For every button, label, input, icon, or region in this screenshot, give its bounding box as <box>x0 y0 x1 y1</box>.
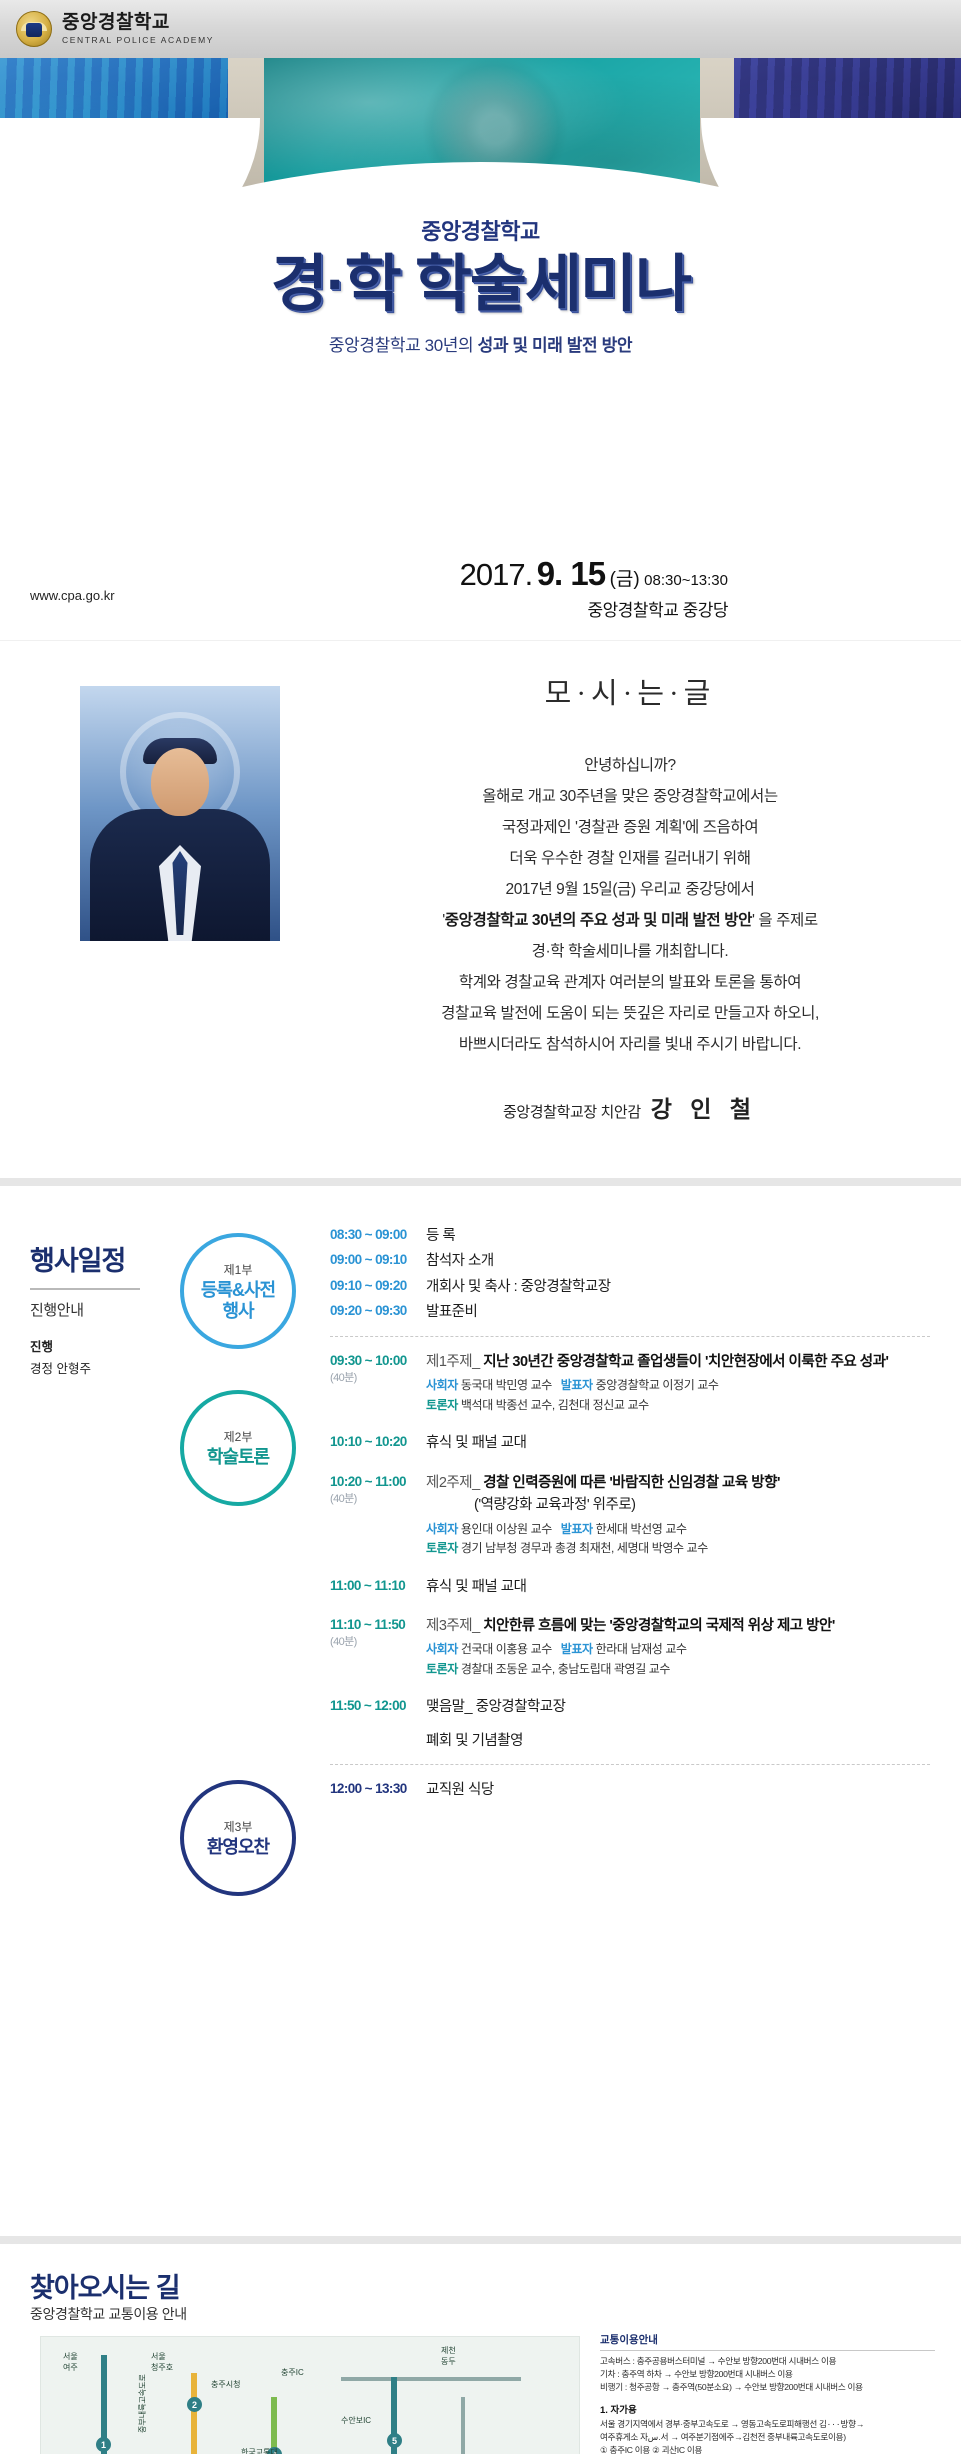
row-time: 10:20 ~ 11:00 (40분) <box>330 1472 426 1506</box>
title-subtitle: 중앙경찰학교 30년의 성과 및 미래 발전 방안 <box>0 331 961 356</box>
invitation-line: 안녕하십니까? <box>330 750 930 781</box>
presenter-label: 발표자 <box>561 1642 593 1656</box>
invitation-section: 모·시·는·글 안녕하십니까? 올해로 개교 30주년을 맞은 중앙경찰학교에서… <box>0 660 961 1100</box>
invitation-letter: 모·시·는·글 안녕하십니까? 올해로 개교 30주년을 맞은 중앙경찰학교에서… <box>330 670 930 1124</box>
row-duration: (40분) <box>330 1369 426 1385</box>
row-content: 제2주제_ 경찰 인력증원에 따른 '바람직한 신임경찰 교육 방향' ('역량… <box>426 1472 780 1559</box>
host-name: 경정 안형주 <box>30 1362 91 1376</box>
block-line: 여주휴게소 자س.서 → 여주분기점에주→김천전 중부내륙고속도로이용) <box>600 2431 935 2444</box>
website-url[interactable]: www.cpa.go.kr <box>30 588 115 603</box>
row-duration: (40분) <box>330 1490 426 1506</box>
schedule-row: 09:20 ~ 09:30 발표준비 <box>330 1301 930 1323</box>
topic-title: 경찰 인력증원에 따른 '바람직한 신임경찰 교육 방향' <box>483 1475 780 1491</box>
row-divider <box>330 1336 930 1337</box>
invitation-signature: 중앙경찰학교장 치안감강 인 철 <box>330 1090 930 1124</box>
moderator-name: 건국대 이홍용 교수 <box>461 1642 552 1656</box>
row-desc: 제2주제_ 경찰 인력증원에 따른 '바람직한 신임경찰 교육 방향' <box>426 1472 780 1494</box>
schedule-row: 09:10 ~ 09:20 개회사 및 축사 : 중앙경찰학교장 <box>330 1276 930 1298</box>
signer-name: 강 인 철 <box>651 1096 757 1122</box>
row-desc: 등 록 <box>426 1225 455 1247</box>
invitation-heading: 모·시·는·글 <box>330 670 930 712</box>
row-time: 08:30 ~ 09:00 <box>330 1225 426 1242</box>
subtitle-bold: 성과 및 미래 발전 방안 <box>478 336 632 355</box>
map-label: 수안보IC <box>341 2415 371 2426</box>
schedule-heading-block: 행사일정 진행안내 <box>30 1239 140 1320</box>
directions-section: 찾아오시는 길 중앙경찰학교 교통이용 안내 1 2 3 4 5 6 서울여주 … <box>0 2258 961 2454</box>
schedule-rule <box>30 1288 140 1290</box>
brand-name-english: CENTRAL POLICE ACADEMY <box>62 35 214 45</box>
moderator-label: 사회자 <box>426 1642 458 1656</box>
row-time-range: 10:20 ~ 11:00 <box>330 1474 406 1489</box>
brand-name-korean: 중앙경찰학교 <box>62 13 214 33</box>
signer-title: 중앙경찰학교장 치안감 <box>503 1104 641 1121</box>
block-title: 1. 자가용 <box>600 2402 935 2416</box>
map-label: 서울여주 <box>63 2351 78 2373</box>
schedule-title: 행사일정 <box>30 1239 140 1278</box>
hero-banner <box>0 58 961 206</box>
row-divider <box>330 1764 930 1765</box>
row-time: 09:00 ~ 09:10 <box>330 1250 426 1267</box>
moderator-label: 사회자 <box>426 1522 458 1536</box>
row-time: 09:30 ~ 10:00 (40분) <box>330 1351 426 1385</box>
invitation-line: 바쁘시더라도 참석하시어 자리를 빛내 주시기 바랍니다. <box>330 1029 930 1060</box>
schedule-section: 행사일정 진행안내 진행 경정 안형주 제1부 등록&사전 행사 제2부 학술토… <box>0 1215 961 2245</box>
invitation-line: 국정과제인 '경찰관 증원 계획'에 즈음하여 <box>330 812 930 843</box>
part-number: 제3부 <box>224 1818 253 1835</box>
poster-page: 중앙경찰학교 CENTRAL POLICE ACADEMY 중앙경찰학교 경·학… <box>0 0 961 2454</box>
schedule-host: 진행 경정 안형주 <box>30 1337 91 1381</box>
topic-number: 제2주제_ <box>426 1475 480 1491</box>
invitation-line: 경·학 학술세미나를 개최합니다. <box>330 936 930 967</box>
block-line: 서울 경기지역에서 경부·중부고속도로 → 영동고속도로피해행선 김۰۰۰방향→ <box>600 2418 935 2431</box>
presenter-name: 한라대 남재성 교수 <box>596 1642 687 1656</box>
topic-number: 제1주제_ <box>426 1354 480 1370</box>
schedule-row: 10:10 ~ 10:20 휴식 및 패널 교대 <box>330 1432 930 1454</box>
transit-line: 기차 : 충주역 하차 → 수안보 방향200번대 시내버스 이용 <box>600 2368 935 2381</box>
topic-title-line2: ('역량강화 교육과정' 위주로) <box>474 1494 780 1516</box>
event-year: 2017. <box>460 557 533 592</box>
row-duration: (40분) <box>330 1633 426 1649</box>
divider-directions <box>0 2236 961 2244</box>
panel-names: 백석대 박종선 교수, 김천대 정신교 교수 <box>461 1398 649 1412</box>
part-badge-3: 제3부 환영오찬 <box>180 1780 296 1896</box>
row-desc: 휴식 및 패널 교대 <box>426 1576 526 1598</box>
presenter-label: 발표자 <box>561 1522 593 1536</box>
presenter-name: 한세대 박선영 교수 <box>596 1522 687 1536</box>
row-desc: 제1주제_ 지난 30년간 중앙경찰학교 졸업생들이 '치안현장에서 이룩한 주… <box>426 1351 888 1373</box>
transit-line: 고속버스 : 충주공용버스터미널 → 수안보 방향200번대 시내버스 이용 <box>600 2355 935 2368</box>
principal-portrait <box>80 686 280 941</box>
panel-label: 토론자 <box>426 1662 458 1676</box>
row-desc: 제3주제_ 치안한류 흐름에 맞는 '중앙경찰학교의 국제적 위상 제고 방안' <box>426 1615 835 1637</box>
row-desc: 맺음말_ 중앙경찰학교장 <box>426 1696 566 1718</box>
schedule-row: 폐회 및 기념촬영 <box>330 1730 930 1752</box>
event-weekday: (금) <box>610 569 640 590</box>
row-time-range: 09:30 ~ 10:00 <box>330 1353 407 1368</box>
map-label: 한국교통대 <box>241 2447 278 2454</box>
schedule-row: 10:20 ~ 11:00 (40분) 제2주제_ 경찰 인력증원에 따른 '바… <box>330 1472 930 1559</box>
part-badge-2: 제2부 학술토론 <box>180 1390 296 1506</box>
row-content: 제1주제_ 지난 30년간 중앙경찰학교 졸업생들이 '치안현장에서 이룩한 주… <box>426 1351 888 1415</box>
event-venue: 중앙경찰학교 중강당 <box>588 596 728 621</box>
schedule-row: 09:00 ~ 09:10 참석자 소개 <box>330 1250 930 1272</box>
transit-line: 비행기 : 청주공항 → 충주역(50분소요) → 수안보 방향200번대 시내… <box>600 2381 935 2394</box>
schedule-row: 11:50 ~ 12:00 맺음말_ 중앙경찰학교장 <box>330 1696 930 1718</box>
invitation-line: 올해로 개교 30주년을 맞은 중앙경찰학교에서는 <box>330 781 930 812</box>
part-badge-1: 제1부 등록&사전 행사 <box>180 1233 296 1349</box>
row-time: 09:20 ~ 09:30 <box>330 1301 426 1318</box>
row-desc: 참석자 소개 <box>426 1250 494 1272</box>
schedule-row: 11:10 ~ 11:50 (40분) 제3주제_ 치안한류 흐름에 맞는 '중… <box>330 1615 930 1679</box>
row-desc: 개회사 및 축사 : 중앙경찰학교장 <box>426 1276 611 1298</box>
event-time: 08:30~13:30 <box>644 572 728 589</box>
map-node: 5 <box>387 2433 402 2448</box>
row-time: 11:00 ~ 11:10 <box>330 1576 426 1593</box>
panel-names: 경찰대 조동운 교수, 충남도립대 곽영길 교수 <box>461 1662 670 1676</box>
directions-title: 찾아오시는 길 <box>30 2266 180 2305</box>
location-map[interactable]: 1 2 3 4 5 6 서울여주 서울청주호 제천동두 충주시청 충주IC 한국… <box>40 2336 580 2454</box>
directions-subtitle: 중앙경찰학교 교통이용 안내 <box>30 2304 187 2324</box>
row-people: 사회자용인대 이상원 교수 발표자한세대 박선영 교수 토론자경기 남부청 경무… <box>426 1520 780 1559</box>
row-people: 사회자동국대 박민영 교수 발표자중앙경찰학교 이정기 교수 토론자백석대 박종… <box>426 1376 888 1415</box>
part-name: 환영오찬 <box>207 1837 269 1857</box>
map-label: 충주시청 <box>211 2379 240 2390</box>
topic-number: 제3주제_ <box>426 1618 480 1634</box>
topic-title: 치안한류 흐름에 맞는 '중앙경찰학교의 국제적 위상 제고 방안' <box>483 1618 835 1634</box>
transit-heading: 교통이용안내 <box>600 2332 935 2351</box>
map-node: 1 <box>96 2437 111 2452</box>
row-content: 제3주제_ 치안한류 흐름에 맞는 '중앙경찰학교의 국제적 위상 제고 방안'… <box>426 1615 835 1679</box>
host-label: 진행 <box>30 1340 53 1354</box>
map-label: 제천동두 <box>441 2345 456 2367</box>
row-desc: 교직원 식당 <box>426 1779 494 1801</box>
topic-title: 지난 30년간 중앙경찰학교 졸업생들이 '치안현장에서 이룩한 주요 성과' <box>483 1354 888 1370</box>
part-number: 제1부 <box>224 1261 253 1278</box>
invitation-line: 학계와 경찰교육 관계자 여러분의 발표와 토론을 통하여 <box>330 967 930 998</box>
map-label: 서울청주호 <box>151 2351 173 2373</box>
row-time: 11:10 ~ 11:50 (40분) <box>330 1615 426 1649</box>
part-name: 학술토론 <box>207 1447 269 1467</box>
divider-top <box>0 640 961 641</box>
event-date: 2017. 9. 15 (금) 08:30~13:30 <box>460 555 728 593</box>
title-block: 중앙경찰학교 경·학 학술세미나 중앙경찰학교 30년의 성과 및 미래 발전 … <box>0 214 961 356</box>
schedule-rows: 08:30 ~ 09:00 등 록 09:00 ~ 09:10 참석자 소개 0… <box>330 1225 930 1805</box>
block-line: ① 충주IC 이용 ② 괴산IC 이용 <box>600 2444 935 2454</box>
police-emblem-icon <box>16 11 52 47</box>
moderator-label: 사회자 <box>426 1378 458 1392</box>
part-number: 제2부 <box>224 1428 253 1445</box>
row-time: 10:10 ~ 10:20 <box>330 1432 426 1449</box>
row-desc: 발표준비 <box>426 1301 477 1323</box>
schedule-row: 09:30 ~ 10:00 (40분) 제1주제_ 지난 30년간 중앙경찰학교… <box>330 1351 930 1415</box>
subtitle-light: 중앙경찰학교 30년의 <box>329 336 478 355</box>
presenter-label: 발표자 <box>561 1378 593 1392</box>
quote-close: ' 을 주제로 <box>752 912 818 929</box>
seminar-theme: 중앙경찰학교 30년의 주요 성과 및 미래 발전 방안 <box>445 912 752 929</box>
title-pretitle: 중앙경찰학교 <box>0 214 961 246</box>
directions-block: 1. 자가용 서울 경기지역에서 경부·중부고속도로 → 영동고속도로피해행선 … <box>600 2402 935 2454</box>
map-label: 중부내륙고속도로 <box>137 2374 148 2433</box>
schedule-subtitle: 진행안내 <box>30 1299 140 1320</box>
schedule-row: 12:00 ~ 13:30 교직원 식당 <box>330 1779 930 1801</box>
row-desc: 폐회 및 기념촬영 <box>426 1730 523 1752</box>
invitation-theme-line: '중앙경찰학교 30년의 주요 성과 및 미래 발전 방안' 을 주제로 <box>330 905 930 936</box>
panel-names: 경기 남부청 경무과 총경 최재천, 세명대 박영수 교수 <box>461 1541 708 1555</box>
event-monthday: 9. 15 <box>537 555 605 592</box>
presenter-name: 중앙경찰학교 이정기 교수 <box>596 1378 719 1392</box>
invitation-line: 더욱 우수한 경찰 인재를 길러내기 위해 <box>330 843 930 874</box>
invitation-line: 경찰교육 발전에 도움이 되는 뜻깊은 자리로 만들고자 하오니, <box>330 998 930 1029</box>
row-time: 09:10 ~ 09:20 <box>330 1276 426 1293</box>
row-desc: 휴식 및 패널 교대 <box>426 1432 526 1454</box>
map-label: 충주IC <box>281 2367 304 2378</box>
row-time: 12:00 ~ 13:30 <box>330 1779 426 1796</box>
schedule-row: 08:30 ~ 09:00 등 록 <box>330 1225 930 1247</box>
schedule-row: 11:00 ~ 11:10 휴식 및 패널 교대 <box>330 1576 930 1598</box>
row-people: 사회자건국대 이홍용 교수 발표자한라대 남재성 교수 토론자경찰대 조동운 교… <box>426 1640 835 1679</box>
divider-schedule <box>0 1178 961 1186</box>
map-node: 2 <box>187 2397 202 2412</box>
row-time <box>330 1730 426 1732</box>
invitation-body: 안녕하십니까? 올해로 개교 30주년을 맞은 중앙경찰학교에서는 국정과제인 … <box>330 750 930 1060</box>
panel-label: 토론자 <box>426 1398 458 1412</box>
invitation-line: 2017년 9월 15일(금) 우리교 중강당에서 <box>330 874 930 905</box>
directions-notes: 교통이용안내 고속버스 : 충주공용버스터미널 → 수안보 방향200번대 시내… <box>600 2332 935 2454</box>
row-time-range: 11:10 ~ 11:50 <box>330 1617 405 1632</box>
panel-label: 토론자 <box>426 1541 458 1555</box>
page-title: 경·학 학술세미나 <box>0 250 961 319</box>
moderator-name: 용인대 이상원 교수 <box>461 1522 552 1536</box>
event-meta: www.cpa.go.kr 2017. 9. 15 (금) 08:30~13:3… <box>0 555 961 625</box>
row-time: 11:50 ~ 12:00 <box>330 1696 426 1713</box>
moderator-name: 동국대 박민영 교수 <box>461 1378 552 1392</box>
page-header: 중앙경찰학교 CENTRAL POLICE ACADEMY <box>0 0 961 58</box>
part-name: 등록&사전 행사 <box>201 1280 275 1320</box>
